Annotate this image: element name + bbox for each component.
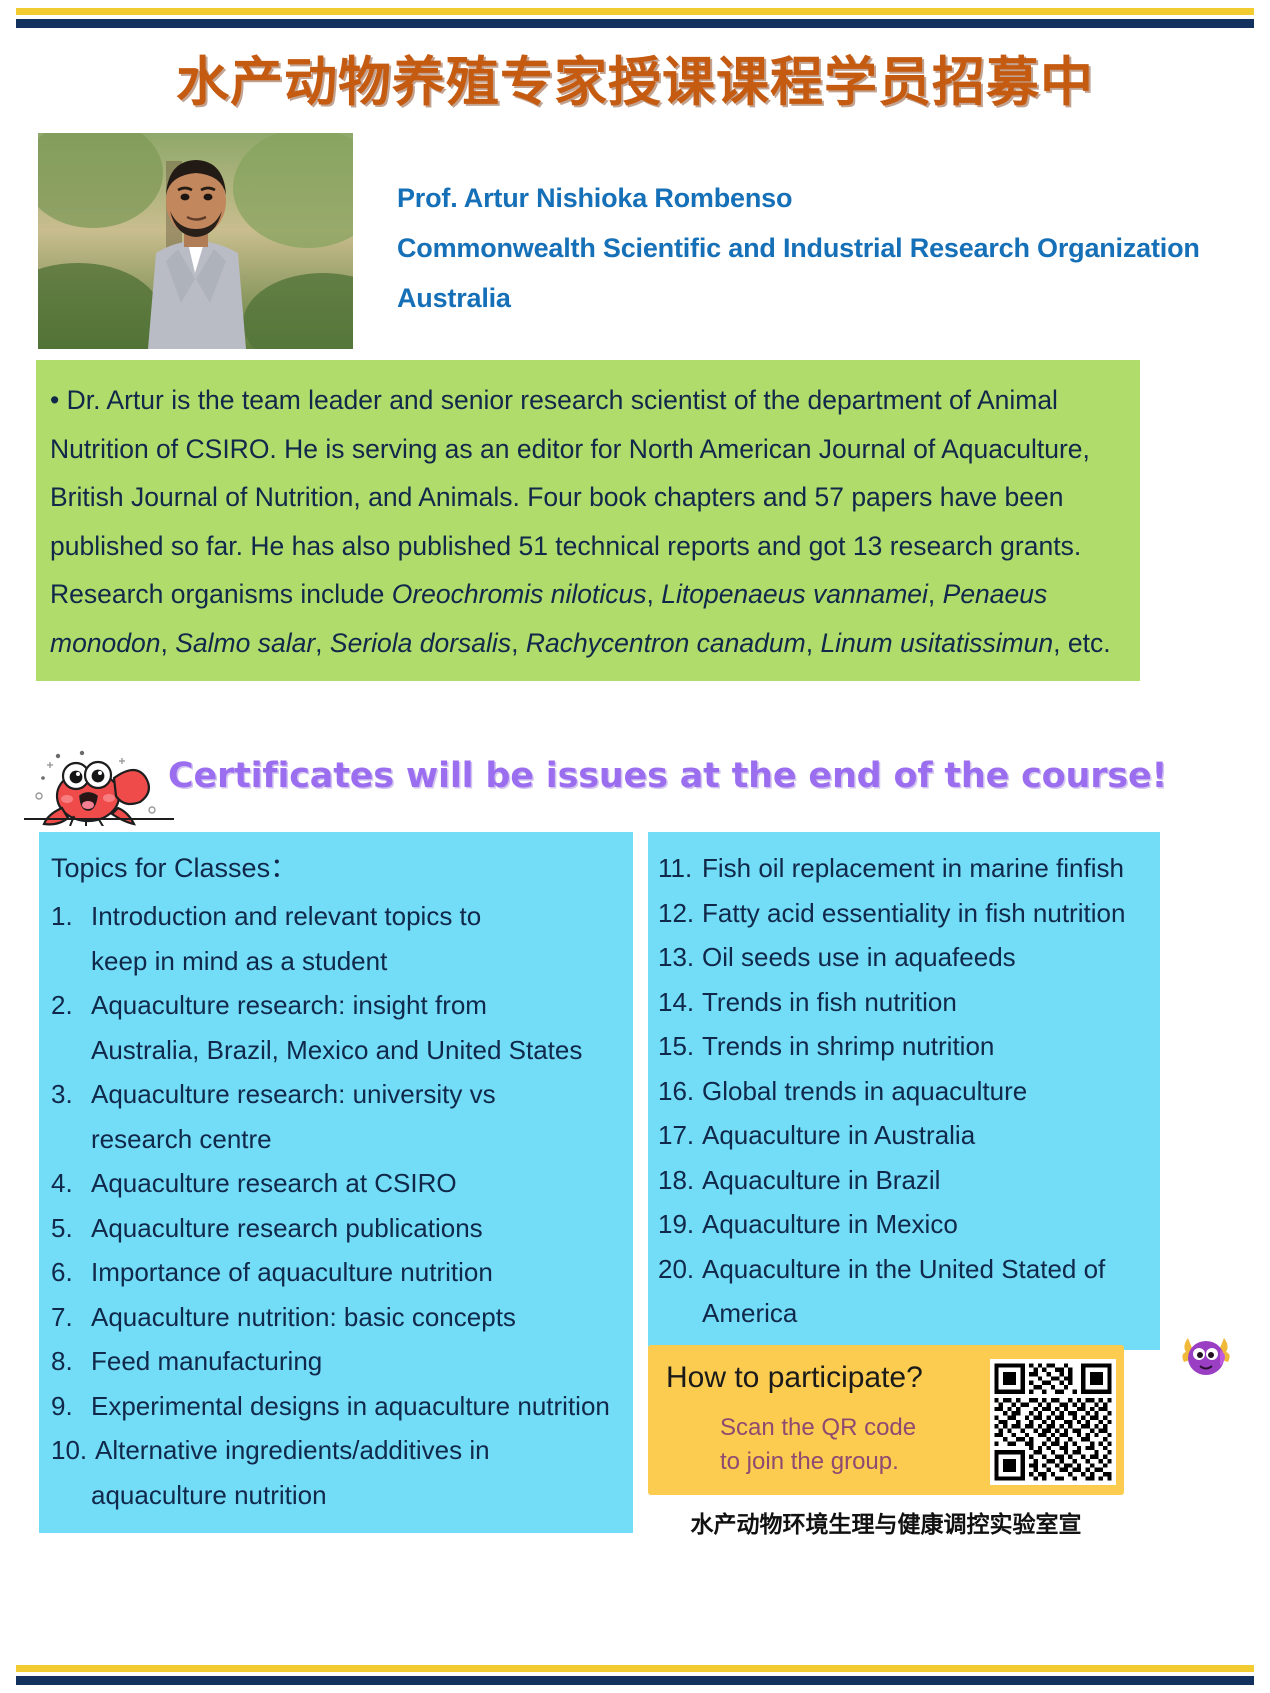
item-indent bbox=[51, 1473, 91, 1518]
item-indent bbox=[51, 1028, 91, 1073]
item-number: 3. bbox=[51, 1072, 91, 1117]
item-text: Aquaculture in Australia bbox=[702, 1113, 1152, 1158]
participate-sub-line2: to join the group. bbox=[720, 1445, 916, 1479]
species-4: Salmo salar bbox=[175, 628, 315, 658]
item-text: Aquaculture in Brazil bbox=[702, 1158, 1152, 1203]
item-number: 7. bbox=[51, 1295, 91, 1340]
crab-icon bbox=[24, 744, 174, 826]
item-text: Importance of aquaculture nutrition bbox=[91, 1250, 625, 1295]
speaker-country: Australia bbox=[397, 273, 1200, 323]
item-text: Aquaculture nutrition: basic concepts bbox=[91, 1295, 625, 1340]
item-text: Aquaculture research at CSIRO bbox=[91, 1161, 625, 1206]
participate-title: How to participate? bbox=[666, 1361, 923, 1395]
item-text: Introduction and relevant topics to bbox=[91, 894, 625, 939]
item-indent bbox=[51, 939, 91, 984]
top-yellow-rule bbox=[16, 8, 1254, 15]
item-text: Alternative ingredients/additives in bbox=[95, 1428, 625, 1473]
item-text-cont: keep in mind as a student bbox=[91, 939, 625, 984]
item-number: 15. bbox=[658, 1024, 702, 1069]
item-text: Fatty acid essentiality in fish nutritio… bbox=[702, 891, 1152, 936]
item-number: 17. bbox=[658, 1113, 702, 1158]
certificates-banner: Certificates will be issues at the end o… bbox=[16, 742, 1256, 827]
item-text: Aquaculture research: university vs bbox=[91, 1072, 625, 1117]
item-number: 13. bbox=[658, 935, 702, 980]
speaker-bio-box: • Dr. Artur is the team leader and senio… bbox=[36, 360, 1140, 681]
item-text: Aquaculture research publications bbox=[91, 1206, 625, 1251]
item-text-cont: Australia, Brazil, Mexico and United Sta… bbox=[91, 1028, 625, 1073]
item-number: 1. bbox=[51, 894, 91, 939]
species-7: Linum usitatissimun bbox=[820, 628, 1053, 658]
item-indent bbox=[51, 1117, 91, 1162]
bio-text: • Dr. Artur is the team leader and senio… bbox=[50, 385, 1090, 609]
item-number: 18. bbox=[658, 1158, 702, 1203]
list-item-cont: Australia, Brazil, Mexico and United Sta… bbox=[51, 1028, 625, 1073]
item-text: Oil seeds use in aquafeeds bbox=[702, 935, 1152, 980]
item-number: 16. bbox=[658, 1069, 702, 1114]
item-number: 9. bbox=[51, 1384, 91, 1429]
list-item: 3. Aquaculture research: university vs bbox=[51, 1072, 625, 1117]
bottom-navy-rule bbox=[16, 1676, 1254, 1685]
speaker-details: Prof. Artur Nishioka Rombenso Commonweal… bbox=[397, 133, 1200, 323]
fish-icon bbox=[1180, 1332, 1232, 1378]
topics-right-column: 11. Fish oil replacement in marine finfi… bbox=[648, 832, 1160, 1350]
item-number: 4. bbox=[51, 1161, 91, 1206]
certificates-text: Certificates will be issues at the end o… bbox=[168, 756, 1167, 796]
speaker-name: Prof. Artur Nishioka Rombenso bbox=[397, 173, 1200, 223]
top-rule-group bbox=[16, 8, 1254, 28]
bottom-rule-group bbox=[16, 1665, 1254, 1685]
topics-left-column: Topics for Classes： 1. Introduction and … bbox=[36, 832, 633, 1533]
item-text: Trends in shrimp nutrition bbox=[702, 1024, 1152, 1069]
item-indent bbox=[658, 1291, 702, 1336]
item-number: 20. bbox=[658, 1247, 702, 1292]
speaker-section: Prof. Artur Nishioka Rombenso Commonweal… bbox=[38, 133, 1233, 349]
list-item: 1. Introduction and relevant topics to bbox=[51, 894, 625, 939]
list-item: 13. Oil seeds use in aquafeeds bbox=[658, 935, 1152, 980]
list-item: 9. Experimental designs in aquaculture n… bbox=[51, 1384, 625, 1429]
item-number: 14. bbox=[658, 980, 702, 1025]
bottom-yellow-rule bbox=[16, 1665, 1254, 1672]
list-item: 5. Aquaculture research publications bbox=[51, 1206, 625, 1251]
item-text: Aquaculture research: insight from bbox=[91, 983, 625, 1028]
list-item: 11. Fish oil replacement in marine finfi… bbox=[658, 846, 1152, 891]
participate-box: How to participate? Scan the QR code to … bbox=[648, 1345, 1124, 1495]
list-item: 12. Fatty acid essentiality in fish nutr… bbox=[658, 891, 1152, 936]
list-item-cont: America bbox=[658, 1291, 1152, 1336]
poster-root: 水产动物养殖专家授课课程学员招募中 bbox=[0, 0, 1270, 1693]
list-item: 14. Trends in fish nutrition bbox=[658, 980, 1152, 1025]
speaker-portrait bbox=[38, 133, 353, 349]
list-item: 15. Trends in shrimp nutrition bbox=[658, 1024, 1152, 1069]
participate-subtext: Scan the QR code to join the group. bbox=[720, 1411, 916, 1479]
list-item: 16. Global trends in aquaculture bbox=[658, 1069, 1152, 1114]
species-2: Litopenaeus vannamei bbox=[661, 579, 928, 609]
item-number: 10. bbox=[51, 1428, 95, 1473]
item-text: Aquaculture in Mexico bbox=[702, 1202, 1152, 1247]
list-item-cont: keep in mind as a student bbox=[51, 939, 625, 984]
item-text-cont: America bbox=[702, 1291, 1152, 1336]
item-text-cont: research centre bbox=[91, 1117, 625, 1162]
item-text: Fish oil replacement in marine finfish bbox=[702, 846, 1152, 891]
speaker-affiliation: Commonwealth Scientific and Industrial R… bbox=[397, 223, 1200, 273]
item-text: Experimental designs in aquaculture nutr… bbox=[91, 1384, 625, 1429]
list-item: 20. Aquaculture in the United Stated of bbox=[658, 1247, 1152, 1292]
participate-sub-line1: Scan the QR code bbox=[720, 1411, 916, 1445]
page-title: 水产动物养殖专家授课课程学员招募中 bbox=[0, 40, 1270, 116]
species-5: Seriola dorsalis bbox=[330, 628, 511, 658]
item-text: Aquaculture in the United Stated of bbox=[702, 1247, 1152, 1292]
top-navy-rule bbox=[16, 19, 1254, 28]
list-item: 7. Aquaculture nutrition: basic concepts bbox=[51, 1295, 625, 1340]
list-item: 4. Aquaculture research at CSIRO bbox=[51, 1161, 625, 1206]
list-item: 17. Aquaculture in Australia bbox=[658, 1113, 1152, 1158]
item-number: 5. bbox=[51, 1206, 91, 1251]
item-number: 2. bbox=[51, 983, 91, 1028]
list-item: 10. Alternative ingredients/additives in bbox=[51, 1428, 625, 1473]
footer-lab-name: 水产动物环境生理与健康调控实验室宣 bbox=[648, 1505, 1124, 1539]
item-number: 11. bbox=[658, 846, 702, 891]
list-item: 18. Aquaculture in Brazil bbox=[658, 1158, 1152, 1203]
item-number: 8. bbox=[51, 1339, 91, 1384]
species-1: Oreochromis niloticus bbox=[392, 579, 647, 609]
bio-tail: , etc. bbox=[1053, 628, 1110, 658]
item-number: 19. bbox=[658, 1202, 702, 1247]
list-item-cont: aquaculture nutrition bbox=[51, 1473, 625, 1518]
qr-code[interactable] bbox=[990, 1359, 1116, 1485]
list-item: 19. Aquaculture in Mexico bbox=[658, 1202, 1152, 1247]
topics-title: Topics for Classes： bbox=[51, 846, 625, 890]
list-item: 8. Feed manufacturing bbox=[51, 1339, 625, 1384]
item-number: 12. bbox=[658, 891, 702, 936]
species-6: Rachycentron canadum bbox=[526, 628, 806, 658]
list-item: 2. Aquaculture research: insight from bbox=[51, 983, 625, 1028]
item-text: Trends in fish nutrition bbox=[702, 980, 1152, 1025]
item-number: 6. bbox=[51, 1250, 91, 1295]
item-text-cont: aquaculture nutrition bbox=[91, 1473, 625, 1518]
list-item: 6. Importance of aquaculture nutrition bbox=[51, 1250, 625, 1295]
item-text: Global trends in aquaculture bbox=[702, 1069, 1152, 1114]
list-item-cont: research centre bbox=[51, 1117, 625, 1162]
item-text: Feed manufacturing bbox=[91, 1339, 625, 1384]
